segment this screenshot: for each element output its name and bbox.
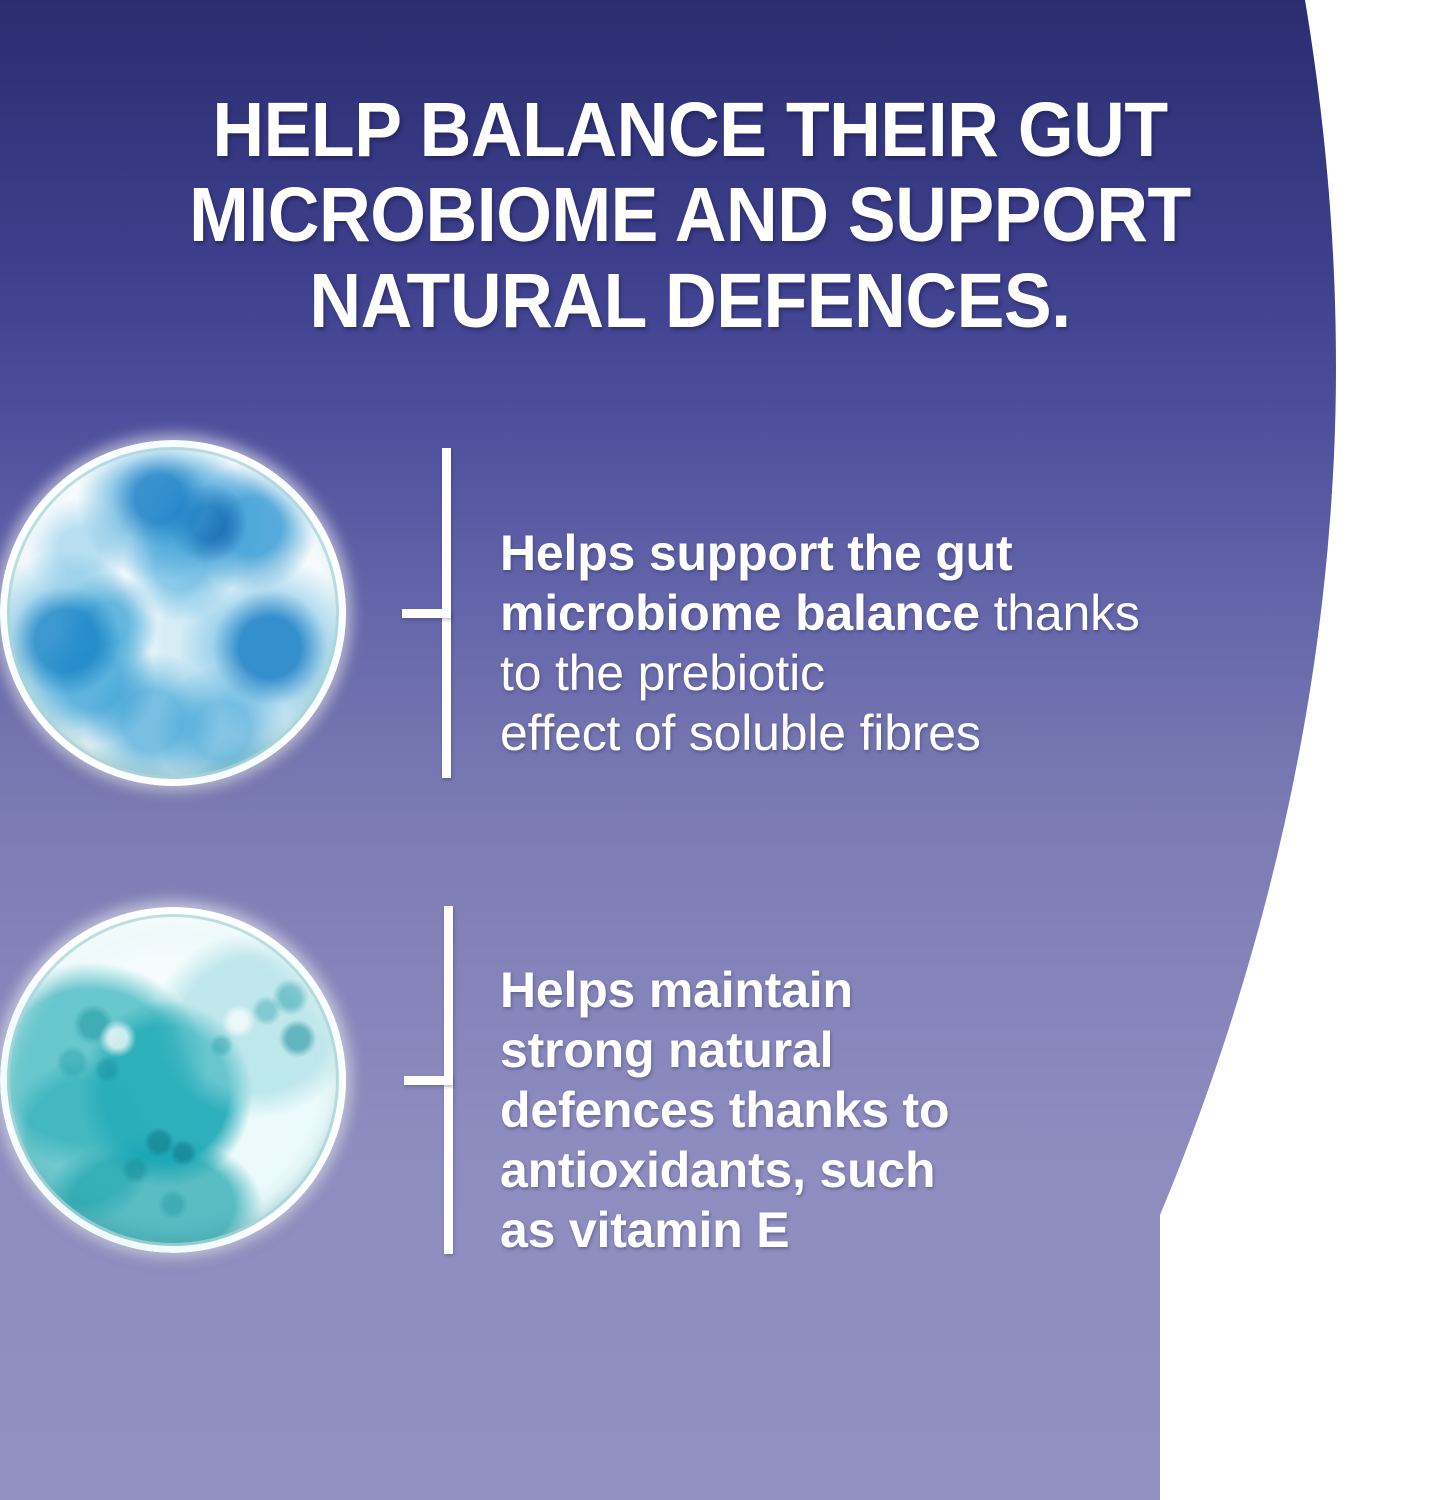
- connector-bracket-1: [386, 448, 486, 778]
- feature-text-microbiome-bold: Helps support the gut microbiome balance: [500, 525, 1012, 641]
- infographic-canvas: HELP BALANCE THEIR GUT MICROBIOME AND SU…: [0, 0, 1434, 1500]
- feature-text-defences: Helps maintain strong natural defences t…: [500, 900, 1100, 1260]
- feature-row-defences: Helps maintain strong natural defences t…: [0, 900, 1100, 1260]
- feature-text-microbiome: Helps support the gut microbiome balance…: [500, 463, 1180, 763]
- petri-dish-teal-gel-bubbles-wrapper: [0, 907, 346, 1253]
- connector-tick-mark: [402, 609, 451, 618]
- page-title: HELP BALANCE THEIR GUT MICROBIOME AND SU…: [48, 88, 1331, 344]
- petri-dish-bacteria-colonies-wrapper: [0, 440, 346, 786]
- connector-tick-mark: [404, 1076, 453, 1085]
- connector-bracket-2: [388, 906, 488, 1254]
- petri-dish-bacteria-colonies-icon: [0, 440, 346, 786]
- feature-row-microbiome: Helps support the gut microbiome balance…: [0, 440, 1180, 786]
- petri-dish-teal-gel-bubbles-icon: [0, 907, 346, 1253]
- feature-text-defences-bold: Helps maintain strong natural defences t…: [500, 962, 949, 1258]
